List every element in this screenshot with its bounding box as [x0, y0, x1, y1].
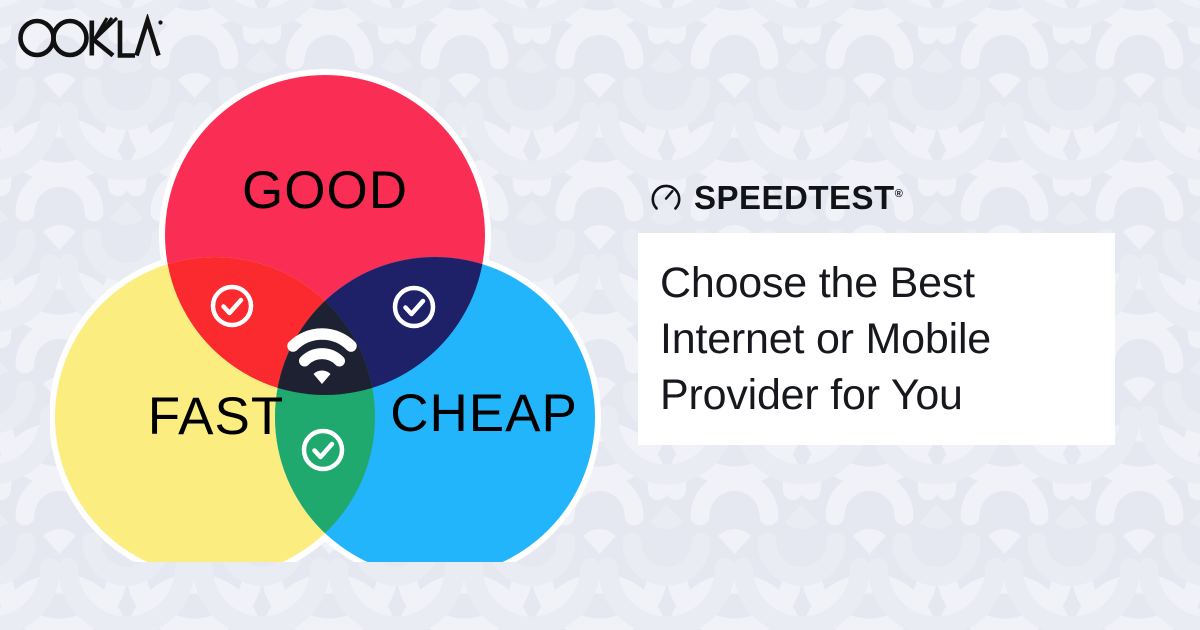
content-column: SPEEDTEST® Choose the Best Internet or M…: [638, 172, 1118, 445]
headline-line-2: Internet or Mobile: [660, 315, 991, 363]
headline-line-3: Provider for You: [660, 371, 963, 419]
venn-label-fast: FAST: [148, 387, 285, 446]
speedometer-gauge-icon: [649, 180, 683, 214]
page-title: Choose the Best Internet or Mobile Provi…: [660, 255, 1089, 423]
venn-label-good: GOOD: [242, 161, 408, 220]
venn-diagram: GOOD FAST CHEAP: [50, 62, 610, 562]
registered-trademark-symbol: ®: [895, 188, 904, 200]
poster-canvas: GOOD FAST CHEAP: [0, 0, 1200, 630]
headline-card: Choose the Best Internet or Mobile Provi…: [638, 233, 1115, 445]
ookla-logo-icon: [14, 14, 164, 60]
venn-label-cheap: CHEAP: [390, 384, 578, 443]
headline-line-1: Choose the Best: [660, 259, 975, 307]
speedtest-wordmark-text: SPEEDTEST: [694, 179, 895, 216]
speedtest-logo: SPEEDTEST®: [638, 172, 1118, 222]
speedtest-wordmark: SPEEDTEST®: [694, 181, 903, 214]
